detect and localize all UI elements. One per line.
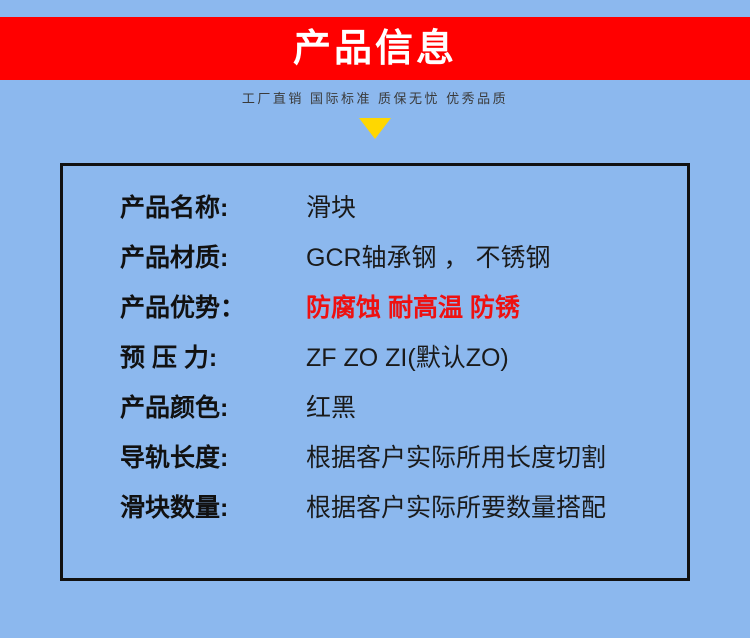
product-info-page: 产品信息 工厂直销 国际标准 质保无忧 优秀品质 产品名称: 滑块 产品材质: … <box>0 0 750 638</box>
spec-label: 产品优势： <box>120 288 306 324</box>
spec-row: 产品优势： 防腐蚀 耐高温 防锈 <box>120 288 681 338</box>
page-title: 产品信息 <box>293 30 457 68</box>
spec-label: 产品颜色: <box>120 388 306 424</box>
spec-label: 产品名称: <box>120 188 306 224</box>
spec-row: 产品名称: 滑块 <box>120 188 681 238</box>
spec-value: GCR轴承钢 ， 不锈钢 <box>306 238 681 274</box>
spec-row: 预 压 力: ZF ZO ZI(默认ZO) <box>120 338 681 388</box>
spec-label: 导轨长度: <box>120 438 306 474</box>
spec-value: 根据客户实际所用长度切割 <box>306 438 681 474</box>
spec-value: 根据客户实际所要数量搭配 <box>306 488 681 524</box>
spec-label: 产品材质: <box>120 238 306 274</box>
spec-label: 滑块数量: <box>120 488 306 524</box>
arrow-down-container <box>0 118 750 139</box>
spec-row: 产品颜色: 红黑 <box>120 388 681 438</box>
product-spec-list: 产品名称: 滑块 产品材质: GCR轴承钢 ， 不锈钢 产品优势： 防腐蚀 耐高… <box>120 188 681 538</box>
product-info-box: 产品名称: 滑块 产品材质: GCR轴承钢 ， 不锈钢 产品优势： 防腐蚀 耐高… <box>60 163 690 581</box>
header-banner: 产品信息 <box>0 17 750 80</box>
spec-row: 产品材质: GCR轴承钢 ， 不锈钢 <box>120 238 681 288</box>
spec-row: 导轨长度: 根据客户实际所用长度切割 <box>120 438 681 488</box>
spec-value: 红黑 <box>306 388 681 424</box>
spec-label: 预 压 力: <box>120 338 306 374</box>
triangle-down-icon <box>359 118 391 139</box>
spec-row: 滑块数量: 根据客户实际所要数量搭配 <box>120 488 681 538</box>
spec-value: ZF ZO ZI(默认ZO) <box>306 338 681 374</box>
spec-value: 滑块 <box>306 188 681 224</box>
spec-value-highlight: 防腐蚀 耐高温 防锈 <box>306 288 681 324</box>
header-subtitle: 工厂直销 国际标准 质保无忧 优秀品质 <box>0 88 750 107</box>
